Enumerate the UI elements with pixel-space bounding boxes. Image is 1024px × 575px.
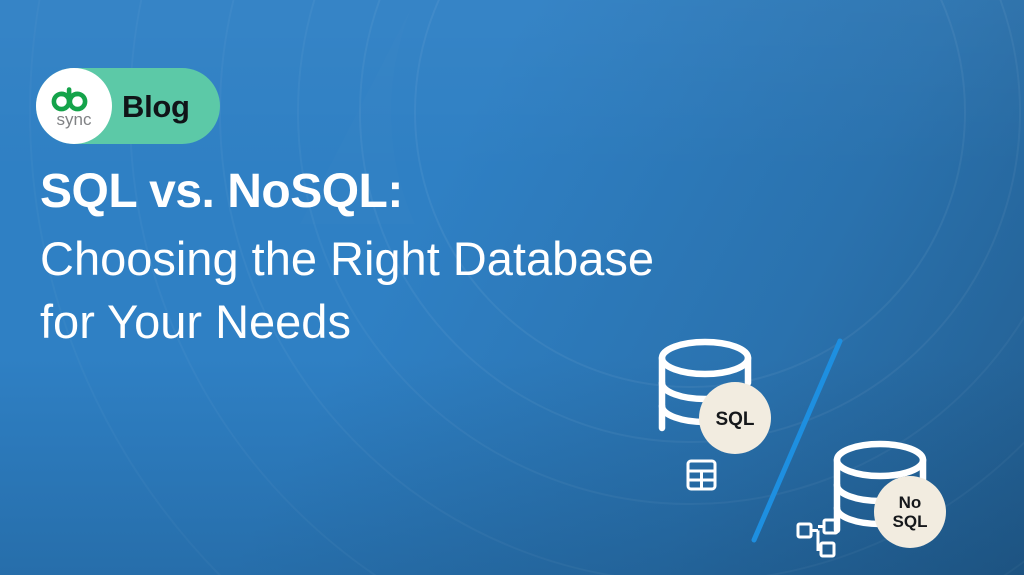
- blog-badge-label: Blog: [122, 91, 190, 122]
- sql-badge: SQL: [699, 382, 771, 454]
- diagonal-divider-line: [754, 341, 840, 540]
- nosql-badge-label-line2: SQL: [893, 512, 928, 531]
- sql-vs-nosql-illustration: SQL No SQL: [630, 320, 1024, 575]
- nosql-badge-label-line1: No: [899, 493, 922, 512]
- node-graph-icon: [798, 520, 837, 556]
- sql-badge-label: SQL: [715, 409, 754, 430]
- dbsync-logo-disc[interactable]: sync: [36, 68, 112, 144]
- headline-line-1: SQL vs. NoSQL:: [40, 168, 870, 216]
- svg-text:sync: sync: [57, 110, 92, 129]
- headline-line-2: Choosing the Right Database: [40, 228, 870, 291]
- dbsync-logo-icon: sync: [45, 80, 103, 132]
- blog-banner: Blog sy: [0, 0, 1024, 575]
- nosql-badge: No SQL: [874, 476, 946, 548]
- table-grid-icon: [688, 461, 715, 489]
